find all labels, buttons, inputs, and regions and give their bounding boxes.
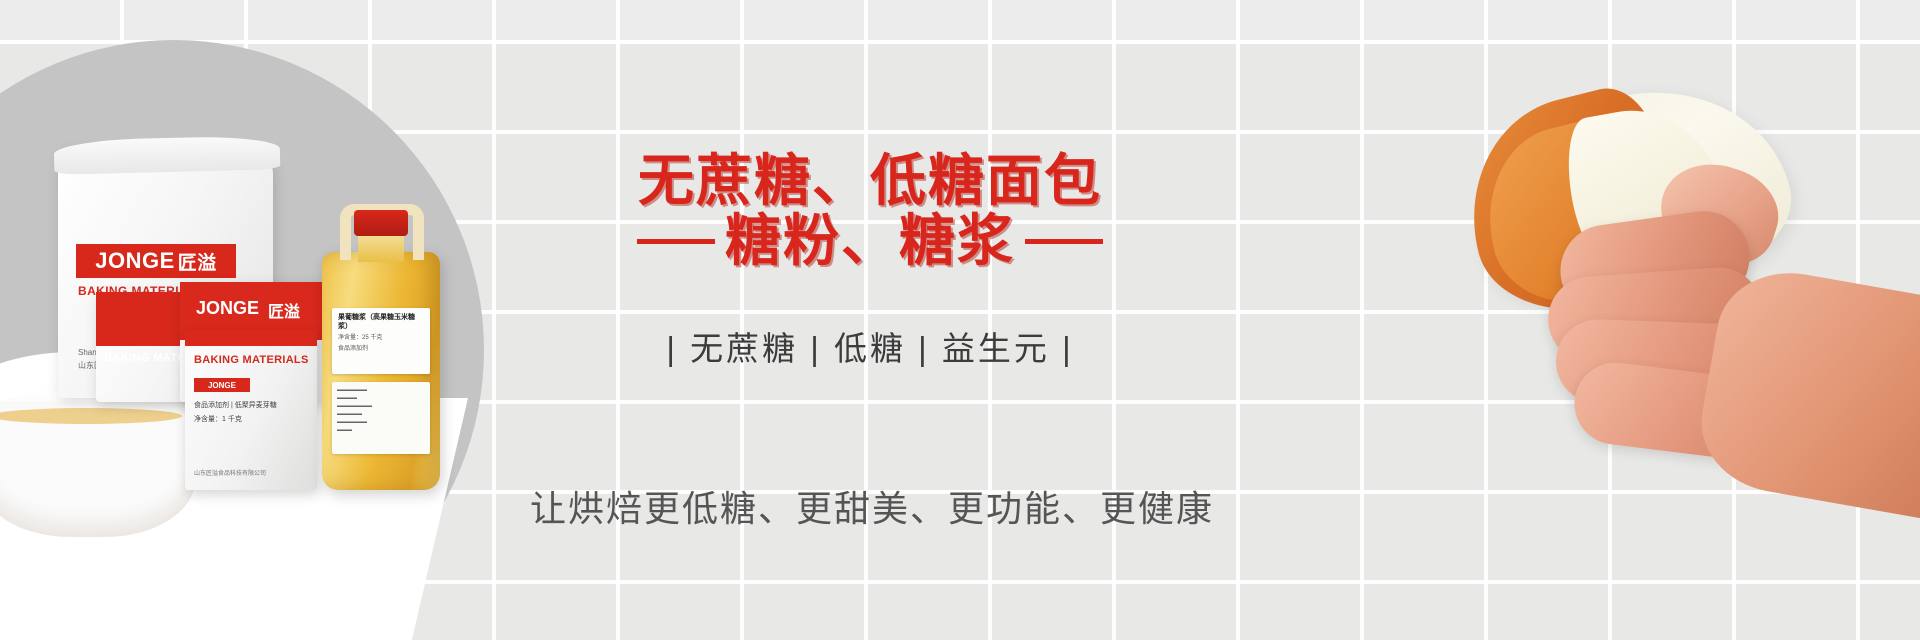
sachet-maker: 山东匠溢食品科技有限公司 <box>194 468 266 477</box>
brand-name-cn-text: 匠溢 <box>178 248 217 275</box>
flour-bag-large-logo: JONGE 匠溢 <box>76 244 236 278</box>
sachet-top-seal <box>185 330 317 346</box>
syrup-bottle-cap <box>354 210 408 236</box>
banner-copy-block: 无蔗糖、低糖面包 糖粉、糖浆 | 无蔗糖 | 低糖 | 益生元 | 让烘焙更低糖… <box>520 60 1220 580</box>
headline-line-1: 无蔗糖、低糖面包 <box>520 152 1220 211</box>
promo-banner: JONGE 匠溢 BAKING MATERIALS Shand 山东匠 BAKI… <box>0 0 1920 640</box>
bottle-label-rows: ▬▬▬▬▬▬▬▬▬▬▬▬▬▬▬▬▬▬▬▬▬▬▬▬▬▬▬▬▬▬▬ <box>337 386 425 434</box>
flour-bag-small-brand: JONGE <box>196 298 259 319</box>
bottle-label-title: 果葡糖浆（高果糖玉米糖浆） <box>338 313 424 332</box>
sachet-brand-badge: JONGE <box>194 378 250 392</box>
sachet-tagline: BAKING MATERIALS <box>194 354 309 366</box>
bottle-label-note: 食品添加剂 <box>338 345 424 354</box>
sugar-sachet: BAKING MATERIALS JONGE 食品添加剂 | 低聚异麦芽糖 净含… <box>185 330 317 490</box>
feature-subline: | 无蔗糖 | 低糖 | 益生元 | <box>520 322 1220 370</box>
sachet-spec-line2: 净含量：1 千克 <box>194 414 242 426</box>
headline-dash-left <box>637 239 715 244</box>
brand-name-text: JONGE <box>95 250 175 272</box>
syrup-bottle: 果葡糖浆（高果糖玉米糖浆） 净含量：25 千克 食品添加剂 ▬▬▬▬▬▬▬▬▬▬… <box>318 200 446 490</box>
bread-in-hand-photo <box>1360 0 1920 640</box>
headline-dash-right <box>1025 239 1103 244</box>
syrup-bottle-label-top: 果葡糖浆（高果糖玉米糖浆） 净含量：25 千克 食品添加剂 <box>332 308 430 374</box>
banner-tagline: 让烘焙更低糖、更甜美、更功能、更健康 <box>482 480 1262 532</box>
sachet-spec-line1: 食品添加剂 | 低聚异麦芽糖 <box>194 400 277 412</box>
bottle-label-spec: 净含量：25 千克 <box>338 334 424 343</box>
syrup-bottle-label-bottom: ▬▬▬▬▬▬▬▬▬▬▬▬▬▬▬▬▬▬▬▬▬▬▬▬▬▬▬▬▬▬▬ <box>332 382 430 454</box>
headline-line-2: 糖粉、糖浆 <box>725 212 1015 271</box>
headline-line-2-row: 糖粉、糖浆 <box>520 212 1220 271</box>
flour-bag-small-brand-cn: 匠溢 <box>268 298 300 322</box>
